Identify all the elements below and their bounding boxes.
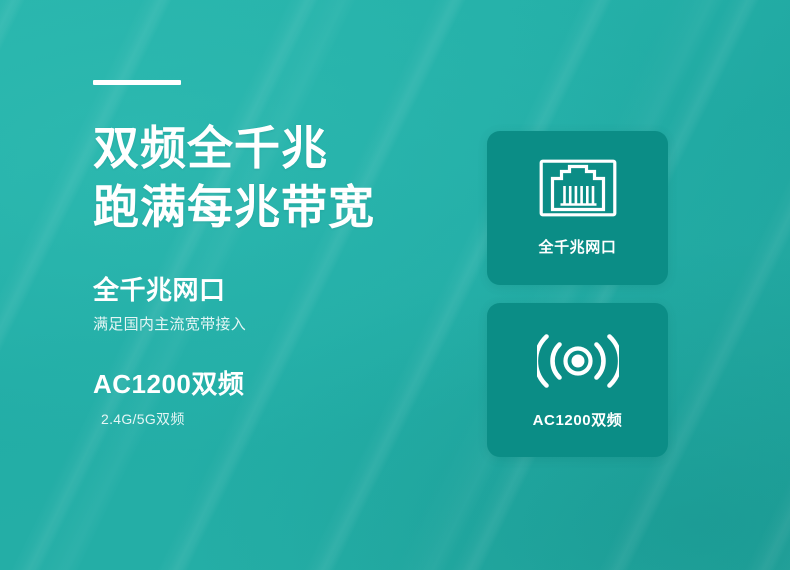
banner-text-column: 双频全千兆 跑满每兆带宽 全千兆网口 满足国内主流宽带接入 AC1200双频 2… [93,80,433,431]
feature-subtitle: 满足国内主流宽带接入 [93,313,433,337]
accent-bar [93,80,181,85]
feature-item-ac1200: AC1200双频 2.4G/5G双频 [93,367,433,431]
feature-card-gigabit-port: 全千兆网口 [487,131,668,285]
card-label: AC1200双频 [533,409,623,430]
headline-line-2: 跑满每兆带宽 [93,178,433,237]
feature-title: 全千兆网口 [93,273,433,307]
feature-subtitle: 2.4G/5G双频 [101,407,433,431]
feature-item-gigabit-port: 全千兆网口 满足国内主流宽带接入 [93,273,433,337]
card-label: 全千兆网口 [538,236,616,257]
feature-card-ac1200: AC1200双频 [487,303,668,457]
headline-line-1: 双频全千兆 [93,119,433,178]
product-feature-banner: 双频全千兆 跑满每兆带宽 全千兆网口 满足国内主流宽带接入 AC1200双频 2… [0,0,790,570]
wifi-signal-icon [537,330,619,397]
feature-title: AC1200双频 [93,367,433,401]
feature-card-list: 全千兆网口 AC1200双频 [487,131,668,457]
ethernet-port-icon [539,159,617,222]
